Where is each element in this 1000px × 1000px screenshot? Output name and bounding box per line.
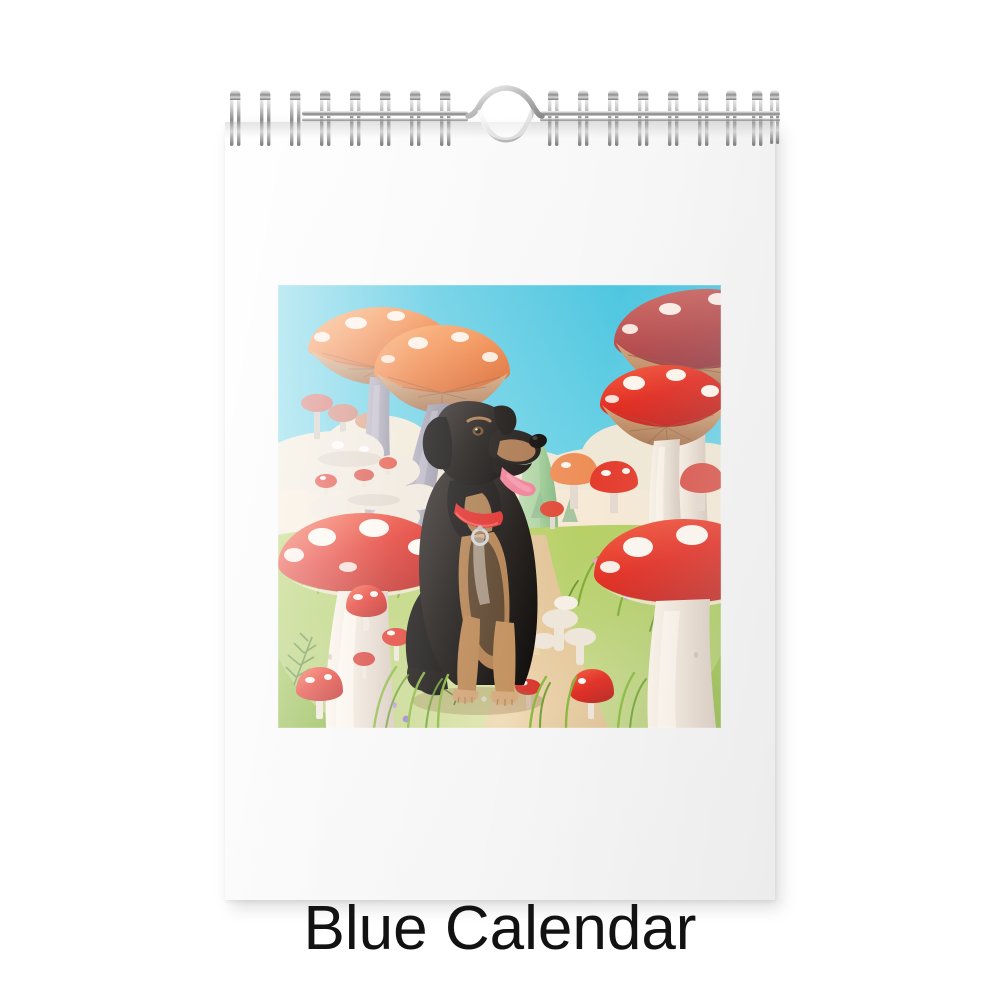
mushroom-forest-illustration (278, 285, 721, 728)
calendar-page[interactable]: 2025 (225, 122, 775, 900)
hanging-loop-icon[interactable] (468, 88, 542, 140)
binding-rod-left (302, 111, 468, 116)
spiral-wire-binding[interactable] (218, 84, 784, 176)
calendar-title: Blue Calendar (225, 898, 775, 960)
product-mockup-stage: 2025 (0, 0, 1000, 1000)
rottweiler-dog (406, 401, 548, 715)
binding-rod-right (540, 111, 780, 116)
cover-artwork (278, 285, 721, 728)
